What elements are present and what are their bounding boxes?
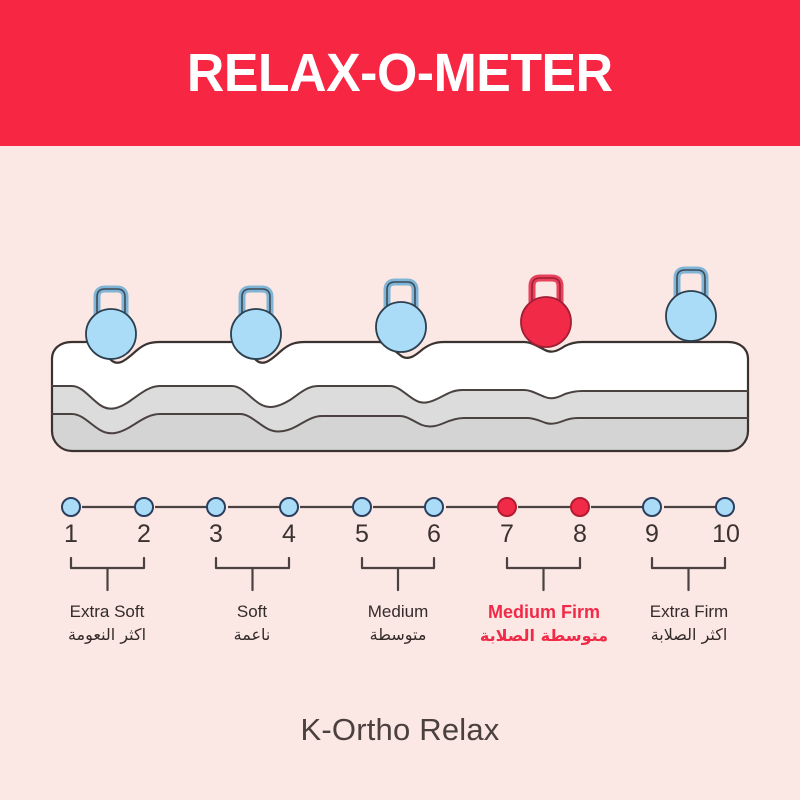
bracket-extra-soft [71,558,144,590]
group-label-medium-firm: Medium Firm متوسطة الصلابة [480,601,608,648]
kettlebell-ball-icon [231,309,281,359]
scale-dot-2[interactable] [135,498,153,516]
group-label-ar: اكثر النعومة [68,623,146,647]
scale-dot-1[interactable] [62,498,80,516]
scale-number-6: 6 [427,522,441,547]
group-label-soft: Soft ناعمة [234,601,271,647]
scale-dot-5[interactable] [353,498,371,516]
scale-number-10: 10 [712,522,740,547]
scale-number-row: 1 2 3 4 5 6 7 8 9 10 [0,522,800,556]
group-label-en: Medium [368,601,428,623]
weight-3 [376,282,426,352]
weight-4-selected [521,278,571,347]
group-label-extra-firm: Extra Firm اكثر الصلابة [650,601,728,647]
group-label-en: Extra Soft [68,601,146,623]
scale-number-1: 1 [64,522,78,547]
infographic-page: RELAX-O-METER [0,0,800,800]
scale-dot-9[interactable] [643,498,661,516]
group-label-ar: متوسطة الصلابة [480,624,608,648]
kettlebell-ball-icon [86,309,136,359]
scale-dot-10[interactable] [716,498,734,516]
bracket-extra-firm [652,558,725,590]
kettlebell-ball-icon [521,297,571,347]
scale-number-2: 2 [137,522,151,547]
weight-1 [86,289,136,359]
bracket-medium-firm [507,558,580,590]
scale-number-8: 8 [573,522,587,547]
kettlebell-ball-icon [376,302,426,352]
bracket-medium [362,558,434,590]
scale-number-3: 3 [209,522,223,547]
scale-dot-8[interactable] [571,498,589,516]
scale-number-4: 4 [282,522,296,547]
firmness-group-labels: Extra Soft اكثر النعومة Soft ناعمة Mediu… [0,601,800,671]
group-label-en: Extra Firm [650,601,728,623]
scale-number-9: 9 [645,522,659,547]
scale-dot-7[interactable] [498,498,516,516]
weight-2 [231,289,281,359]
group-label-ar: ناعمة [234,623,271,647]
group-label-medium: Medium متوسطة [368,601,428,647]
header-banner: RELAX-O-METER [0,0,800,146]
mattress-illustration [52,342,748,451]
scale-number-5: 5 [355,522,369,547]
group-brackets [71,558,725,590]
scale-dot-3[interactable] [207,498,225,516]
bracket-soft [216,558,289,590]
group-label-ar: اكثر الصلابة [650,623,728,647]
group-label-en: Medium Firm [480,601,608,624]
mattress-core-layer [52,414,748,451]
scale-dot-6[interactable] [425,498,443,516]
firmness-illustration [0,146,800,800]
scale-dot-4[interactable] [280,498,298,516]
group-label-en: Soft [234,601,271,623]
scale-number-7: 7 [500,522,514,547]
kettlebell-ball-icon [666,291,716,341]
page-title: RELAX-O-METER [187,46,613,100]
group-label-ar: متوسطة [368,623,428,647]
group-label-extra-soft: Extra Soft اكثر النعومة [68,601,146,647]
weight-5 [666,270,716,341]
product-name: K-Ortho Relax [0,714,800,745]
